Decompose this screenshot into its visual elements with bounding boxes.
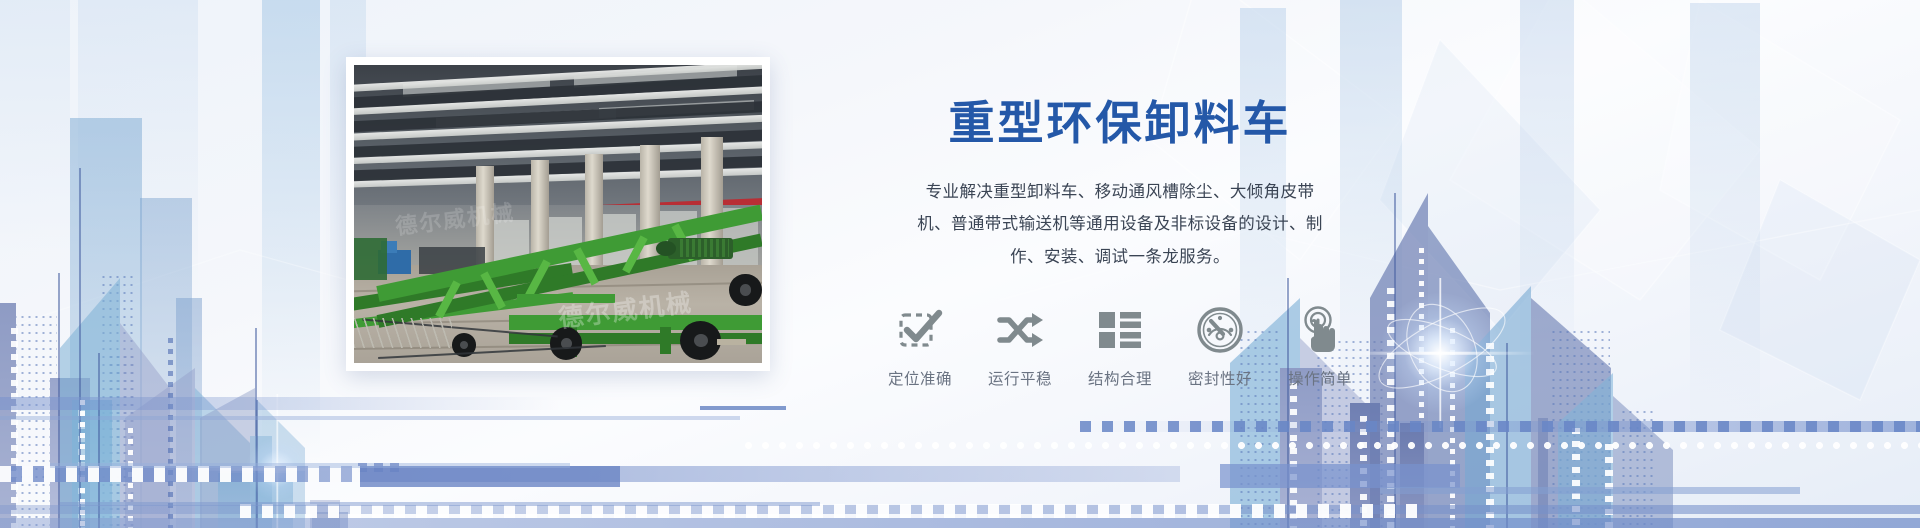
bg-square	[390, 463, 399, 472]
bg-bottom-bar	[1220, 464, 1460, 488]
bg-building	[1400, 423, 1424, 528]
bg-building	[250, 436, 272, 528]
bg-bottom-bar	[50, 463, 570, 468]
drive-motor-fins	[680, 239, 729, 257]
bg-bottom-bar	[700, 406, 786, 410]
bg-building	[0, 303, 16, 528]
bg-building-windows	[1605, 444, 1613, 528]
wheel	[680, 321, 721, 360]
product-photo: 德尔威机械 德尔威机械	[354, 65, 762, 363]
bg-building-windows	[1360, 416, 1367, 528]
bg-building-dotted	[12, 313, 57, 528]
bg-dashed-line	[128, 428, 133, 528]
bg-antenna-mast	[255, 328, 257, 528]
touch-hand-icon	[1293, 303, 1347, 357]
feature-item-structure[interactable]: 结构合理	[1083, 303, 1157, 389]
drive-motor-cap	[656, 241, 676, 256]
bg-building	[310, 500, 340, 528]
banner-content: 重型环保卸料车 专业解决重型卸料车、移动通风槽除尘、大倾角皮带机、普通带式输送机…	[800, 96, 1440, 389]
bg-building-windows	[1572, 428, 1580, 528]
feature-list: 定位准确 运行平稳	[800, 303, 1440, 389]
bg-building	[50, 378, 90, 528]
bg-bottom-bar	[1080, 421, 1920, 432]
green-bin	[354, 238, 387, 280]
bg-bottom-bar	[0, 505, 1920, 514]
bg-dashed-band	[240, 504, 1420, 518]
bg-bottom-bar	[0, 397, 560, 410]
feature-item-sealing[interactable]: 密封性好	[1183, 303, 1257, 389]
bg-building	[312, 512, 348, 528]
bg-antenna-mast	[98, 353, 100, 528]
bg-building	[70, 118, 142, 528]
feature-label: 密封性好	[1188, 367, 1252, 389]
bg-light-column	[262, 0, 320, 460]
bg-bottom-bar	[360, 466, 620, 487]
banner-subtitle: 专业解决重型卸料车、移动通风槽除尘、大倾角皮带机、普通带式输送机等通用设备及非标…	[910, 176, 1330, 273]
bg-building	[1538, 418, 1548, 528]
bg-building-windows	[1290, 383, 1297, 528]
bg-building-angled	[60, 228, 180, 528]
checkbox-dashed-check-icon	[893, 303, 947, 357]
bg-building	[140, 198, 192, 528]
bg-antenna-mast	[79, 168, 81, 528]
bg-building	[176, 298, 202, 528]
feature-label: 操作简单	[1288, 367, 1352, 389]
bg-building-angled	[1465, 238, 1615, 528]
bg-light-column	[0, 0, 70, 250]
bg-building	[72, 400, 112, 528]
bg-building-angled	[1558, 358, 1678, 528]
bg-lens-flare	[246, 438, 308, 500]
bg-dashed-line	[1450, 328, 1455, 528]
bg-dashed-line	[168, 338, 173, 528]
bg-dashed-band	[1080, 421, 1920, 432]
rebar-bundle	[354, 318, 452, 348]
bg-building	[1280, 368, 1322, 528]
axle-stub	[717, 339, 746, 345]
gauge-seal-icon	[1193, 303, 1247, 357]
bg-bottom-bar	[0, 466, 1180, 482]
bg-light-column	[1520, 0, 1574, 398]
bg-bottom-bar	[0, 416, 740, 420]
bg-building	[218, 473, 293, 528]
bg-square	[358, 463, 367, 472]
bg-building-windows	[11, 328, 18, 528]
bg-antenna-mast	[256, 400, 258, 528]
feature-item-stability[interactable]: 运行平稳	[983, 303, 1057, 389]
bg-dotted-band	[740, 441, 1920, 450]
bg-bottom-bar	[60, 502, 820, 506]
bg-building-windows	[1486, 343, 1494, 528]
bg-building-angled	[125, 348, 255, 528]
bg-dashed-line	[80, 400, 85, 528]
bg-light-column	[78, 0, 198, 300]
feature-item-operation[interactable]: 操作简单	[1283, 303, 1357, 389]
bg-light-column	[1690, 3, 1760, 433]
page-title: 重型环保卸料车	[800, 96, 1440, 150]
feature-item-positioning[interactable]: 定位准确	[883, 303, 957, 389]
bg-antenna-mast	[1506, 343, 1508, 528]
shuffle-arrows-icon	[993, 303, 1047, 357]
feature-label: 运行平稳	[988, 367, 1052, 389]
bg-building-dotted	[108, 353, 136, 528]
bg-building-dotted	[100, 273, 134, 528]
product-photo-frame: 德尔威机械 德尔威机械	[346, 57, 770, 371]
bg-building-dotted	[1550, 328, 1610, 528]
wheel	[729, 274, 762, 307]
bg-square	[374, 463, 383, 472]
bg-building	[1350, 403, 1380, 528]
bg-building-windows	[78, 410, 85, 528]
bg-antenna-mast	[58, 273, 60, 528]
chassis-leg	[660, 327, 671, 354]
feature-label: 结构合理	[1088, 367, 1152, 389]
feature-label: 定位准确	[888, 367, 952, 389]
bg-building-angled	[200, 388, 310, 528]
hero-banner: 德尔威机械 德尔威机械 重型环保卸料车 专业解决重型卸料车、移动通风槽除尘、大倾…	[0, 0, 1920, 528]
bg-bottom-bar	[1380, 487, 1800, 494]
bg-dashed-band	[0, 466, 360, 482]
bg-bottom-bar	[0, 518, 1920, 528]
bg-building-dotted	[1620, 408, 1656, 528]
layout-list-icon	[1093, 303, 1147, 357]
